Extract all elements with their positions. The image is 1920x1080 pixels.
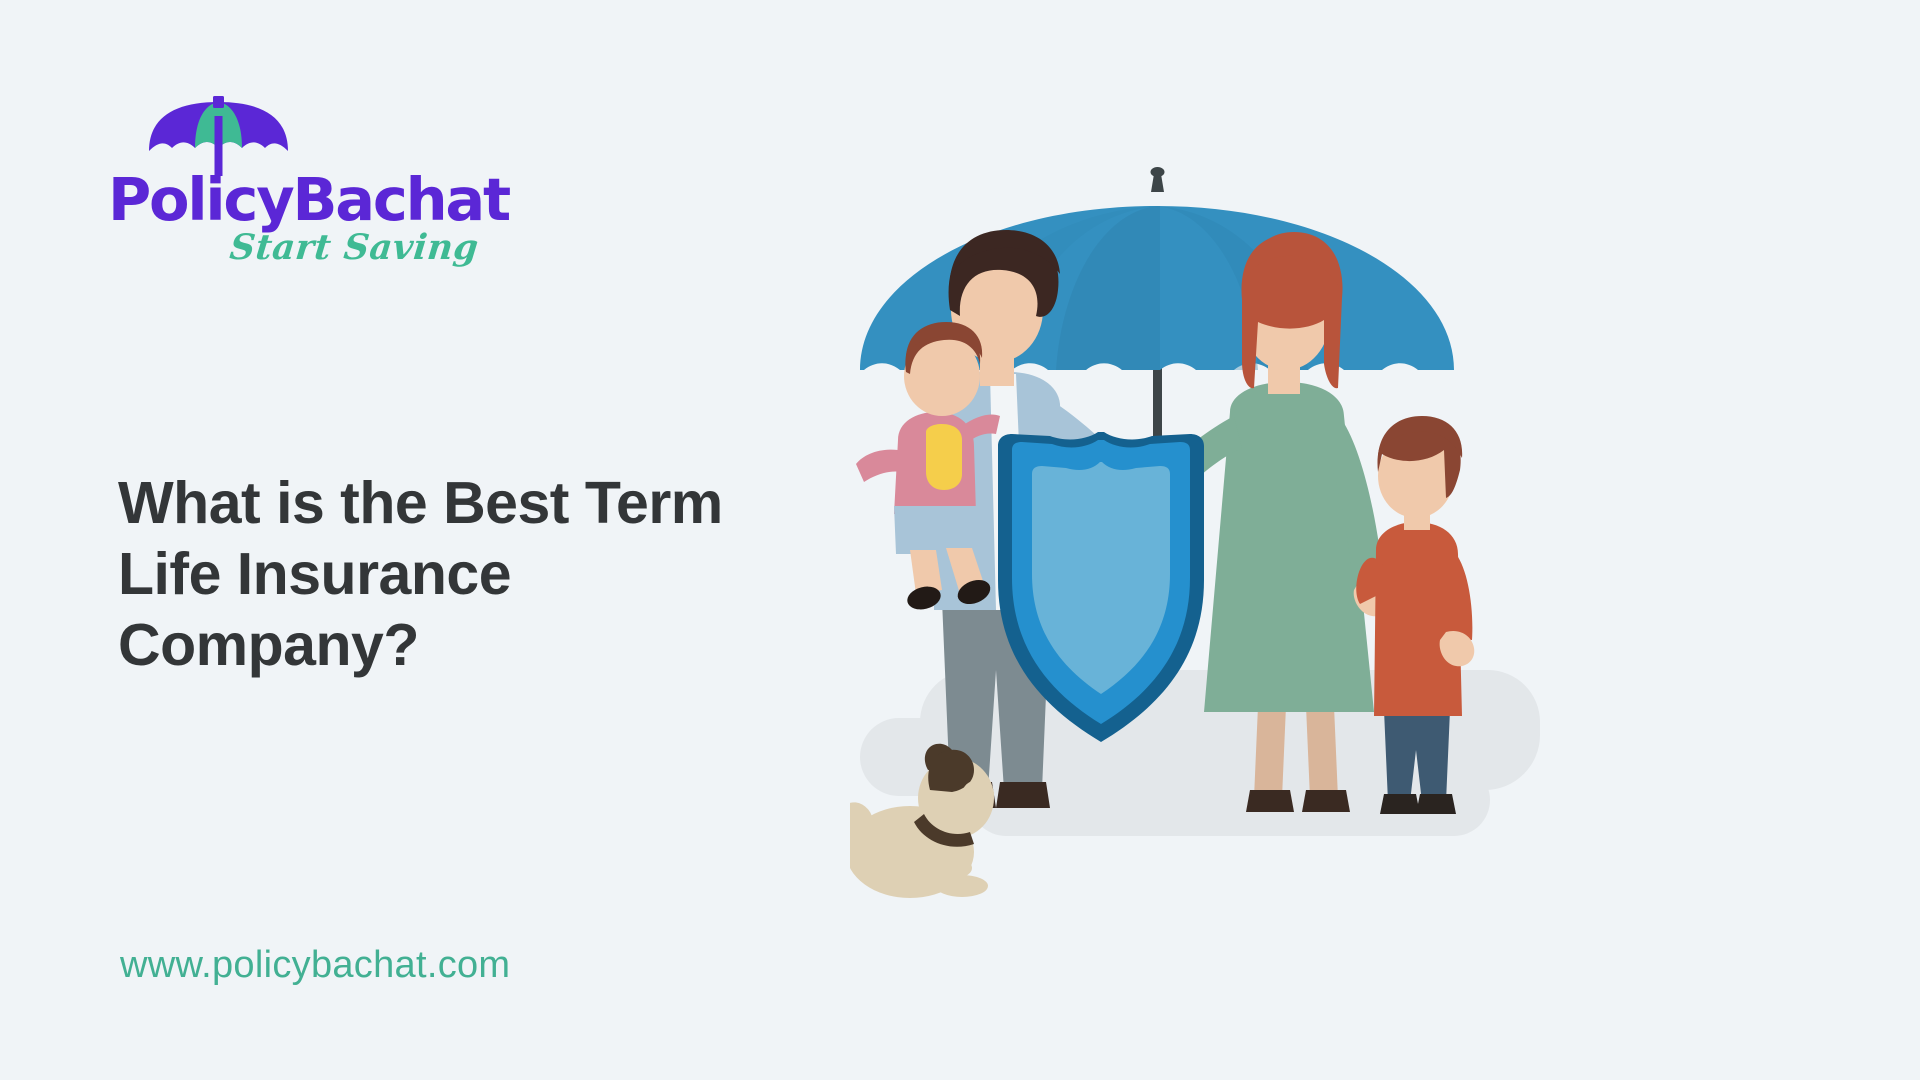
family-insurance-illustration bbox=[850, 150, 1630, 980]
brand-logo[interactable]: PolicyBachat Start Saving bbox=[108, 96, 528, 306]
umbrella-icon bbox=[146, 96, 291, 176]
headline-line-2: Life Insurance bbox=[118, 539, 758, 610]
brand-tagline: Start Saving bbox=[228, 230, 480, 265]
headline-line-1: What is the Best Term bbox=[118, 468, 758, 539]
brand-wordmark: PolicyBachat bbox=[108, 170, 509, 229]
headline-line-3: Company? bbox=[118, 610, 758, 681]
banner-canvas: PolicyBachat Start Saving What is the Be… bbox=[0, 0, 1920, 1080]
website-url[interactable]: www.policybachat.com bbox=[120, 944, 510, 987]
page-title: What is the Best Term Life Insurance Com… bbox=[118, 468, 758, 680]
